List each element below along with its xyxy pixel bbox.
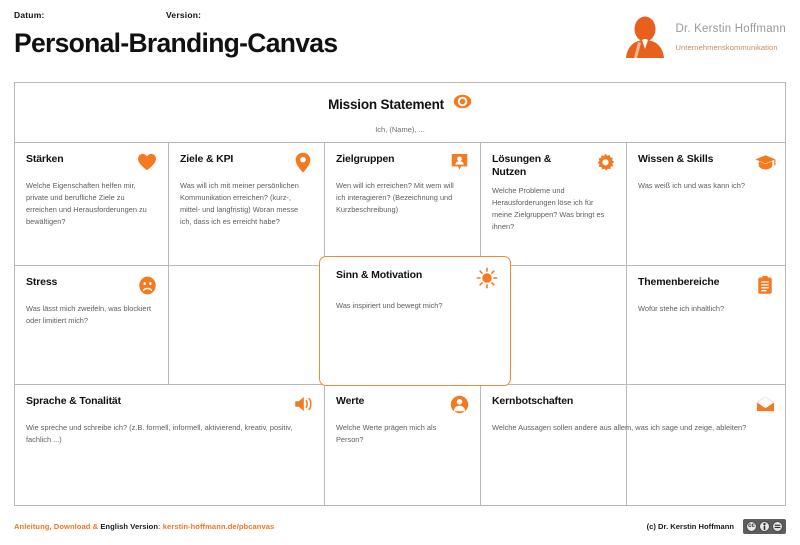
cell-title: Sinn & Motivation xyxy=(336,269,422,282)
envelope-icon xyxy=(754,393,776,415)
cell-ziele-kpi[interactable]: Ziele & KPI Was will ich mit meiner pers… xyxy=(169,143,324,265)
map-pin-icon xyxy=(292,151,314,173)
person-silhouette-icon xyxy=(622,16,668,58)
cell-sprache-tonalitaet[interactable]: Sprache & Tonalität Wie spreche und schr… xyxy=(15,385,324,506)
cell-description: Wie spreche und schreibe ich? (z.B. form… xyxy=(26,422,302,446)
link-prefix: Anleitung, Download & xyxy=(14,522,100,531)
cc-icon: cc xyxy=(746,521,757,532)
cell-title: Kernbotschaften xyxy=(492,395,573,408)
cell-kernbotschaften[interactable]: Kernbotschaften Welche Aussagen sollen a… xyxy=(481,385,786,506)
heart-icon xyxy=(136,151,158,173)
graduation-cap-icon xyxy=(754,151,776,173)
cell-werte[interactable]: Werte Welche Werte prägen mich als Perso… xyxy=(325,385,480,506)
cell-description: Welche Werte prägen mich als Person? xyxy=(336,422,465,446)
cell-title: Zielgruppen xyxy=(336,153,394,166)
link-url: : kerstin-hoffmann.de/pbcanvas xyxy=(158,522,274,531)
cell-description: Was will ich mit meiner persönlichen Kom… xyxy=(180,180,309,228)
cell-loesungen-nutzen[interactable]: Lösungen & Nutzen Welche Probleme und He… xyxy=(481,143,626,265)
version-label: Version: xyxy=(166,10,201,24)
cell-title: Themenbereiche xyxy=(638,276,719,289)
gear-icon xyxy=(594,151,616,173)
cc-nd-icon xyxy=(772,521,783,532)
cell-description: Wen will ich erreichen? Mit wem will ich… xyxy=(336,180,465,216)
mission-subtitle: Ich, (Name), ... xyxy=(375,125,425,134)
logo-subtitle: Unternehmenskommunikation xyxy=(675,43,777,52)
canvas-grid: Stärken Welche Eigenschaften helfen mir,… xyxy=(15,143,785,506)
brand-logo: Dr. Kerstin Hoffmann Unternehmenskommuni… xyxy=(622,16,786,58)
cell-description: Was lässt mich zweifeln, was blockiert o… xyxy=(26,303,153,327)
cell-description: Welche Aussagen sollen andere aus allem,… xyxy=(492,422,765,434)
cell-description: Welche Eigenschaften helfen mir, private… xyxy=(26,180,153,228)
download-link[interactable]: Anleitung, Download & English Version: k… xyxy=(14,522,274,531)
cell-description: Welche Probleme und Herausforderungen lö… xyxy=(492,185,611,233)
cc-by-icon xyxy=(759,521,770,532)
cell-title: Stärken xyxy=(26,153,63,166)
page-footer: Anleitung, Download & English Version: k… xyxy=(14,514,786,538)
footer-right: (c) Dr. Kerstin Hoffmann cc xyxy=(647,519,786,534)
datum-label: Datum: xyxy=(14,10,166,24)
logo-name: Dr. Kerstin Hoffmann xyxy=(675,23,786,35)
cell-sinn-motivation[interactable]: Sinn & Motivation xyxy=(319,256,511,386)
cell-description: Was weiß ich und was kann ich? xyxy=(638,180,770,192)
cell-title: Stress xyxy=(26,276,57,289)
sad-face-icon xyxy=(136,274,158,296)
mission-statement-section[interactable]: Mission Statement Ich, (Name), ... xyxy=(15,83,785,143)
person-circle-icon xyxy=(448,393,470,415)
cell-title: Lösungen & Nutzen xyxy=(492,153,588,178)
cell-themenbereiche[interactable]: Themenbereiche Wofür s xyxy=(627,266,786,384)
sun-icon xyxy=(476,267,498,289)
canvas-board: Mission Statement Ich, (Name), ... xyxy=(14,82,786,506)
page-header: Datum: Version: Personal-Branding-Canvas… xyxy=(0,0,800,78)
cell-wissen-skills[interactable]: Wissen & Skills Was weiß ich und was kan… xyxy=(627,143,786,265)
cell-title: Werte xyxy=(336,395,364,408)
clipboard-icon xyxy=(754,274,776,296)
creative-commons-badge[interactable]: cc xyxy=(743,519,786,534)
cell-title: Sprache & Tonalität xyxy=(26,395,121,408)
speaker-icon xyxy=(292,393,314,415)
cell-description: Wofür stehe ich inhaltlich? xyxy=(638,303,770,315)
target-eye-icon xyxy=(453,92,472,116)
cell-description: Was inspiriert und bewegt mich? xyxy=(336,300,492,312)
cell-stress[interactable]: Stress Was lässt mich zweifeln, was bloc… xyxy=(15,266,168,384)
cell-zielgruppen[interactable]: Zielgruppen Wen will ich erreichen? Mit … xyxy=(325,143,480,265)
cell-title: Ziele & KPI xyxy=(180,153,233,166)
mission-title: Mission Statement xyxy=(328,97,444,112)
copyright-text: (c) Dr. Kerstin Hoffmann xyxy=(647,522,734,531)
cell-title: Wissen & Skills xyxy=(638,153,713,166)
user-badge-icon xyxy=(448,151,470,173)
cell-staerken[interactable]: Stärken Welche Eigenschaften helfen mir,… xyxy=(15,143,168,265)
link-english-version: English Version xyxy=(100,522,158,531)
